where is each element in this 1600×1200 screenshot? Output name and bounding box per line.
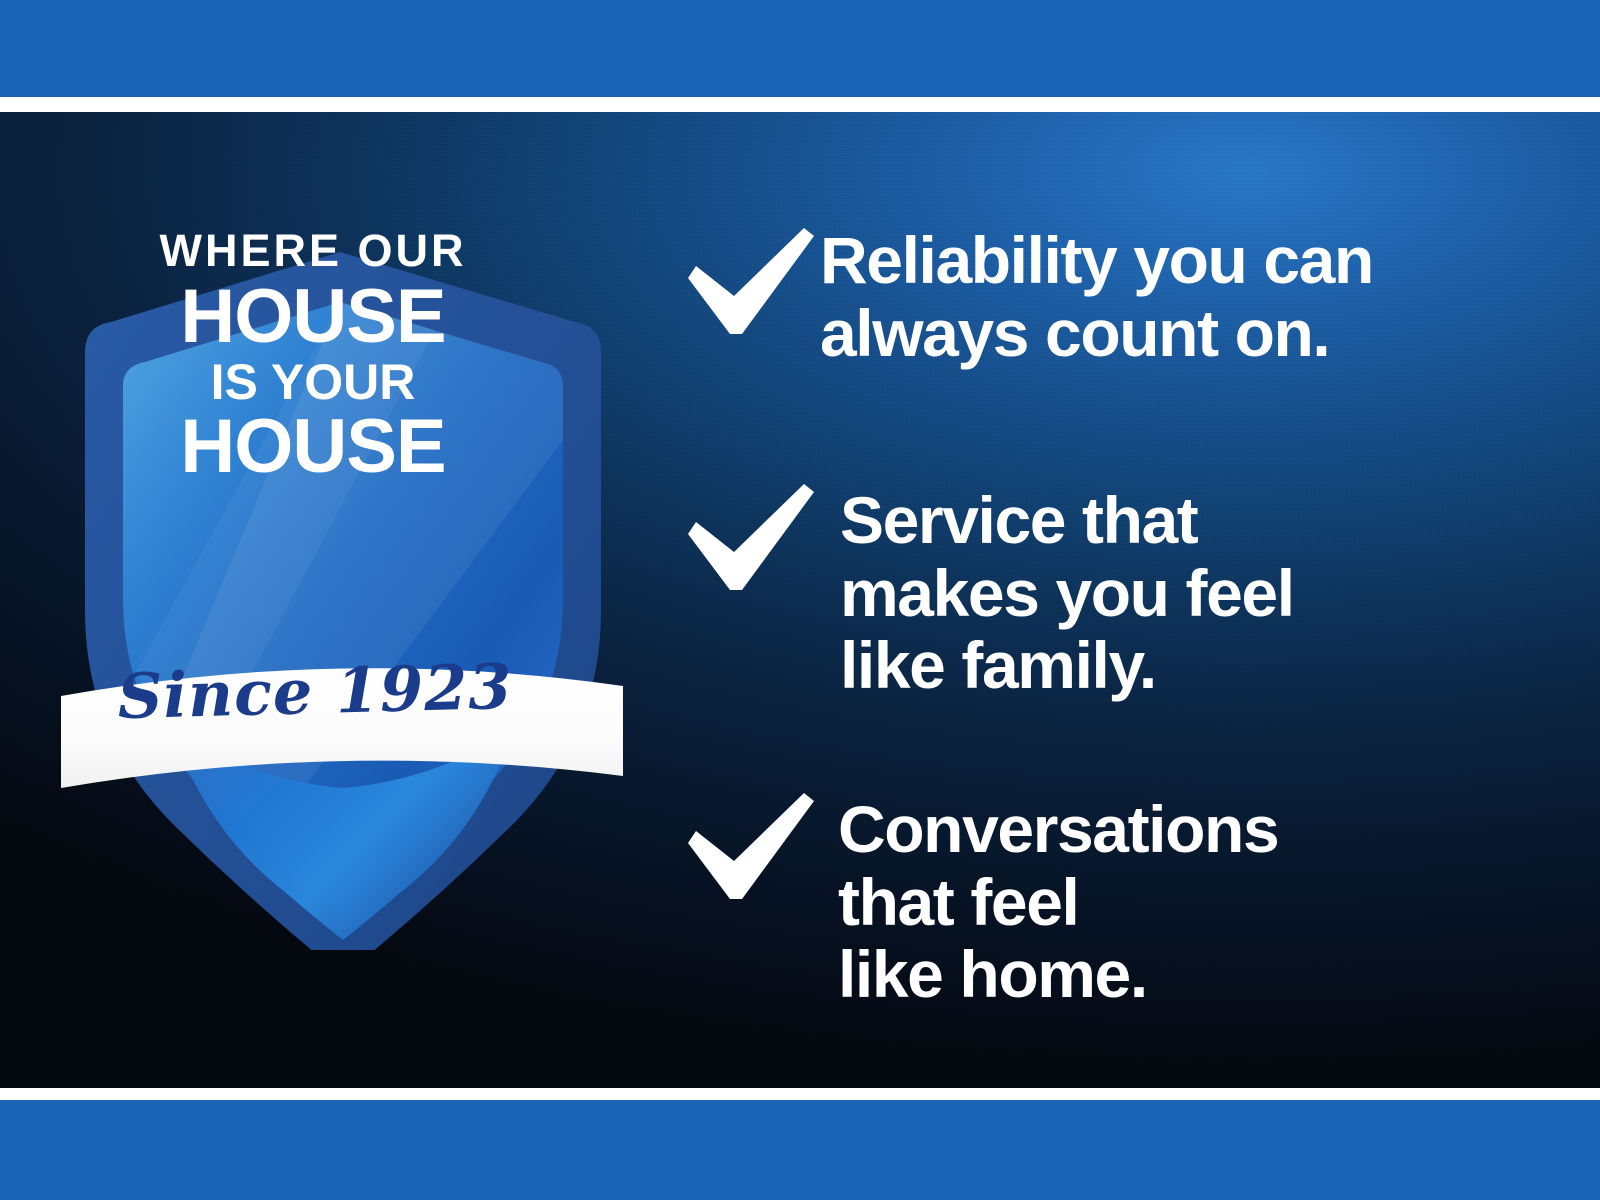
- benefit-item: Conversations that feel like home.: [680, 787, 1278, 1011]
- benefit-text: Conversations that feel like home.: [838, 787, 1278, 1011]
- checkmark-icon: [680, 478, 820, 598]
- bottom-brand-bar: [0, 1100, 1600, 1200]
- shield-emblem: [55, 140, 630, 950]
- benefit-text: Service that makes you feel like family.: [840, 478, 1294, 702]
- promo-banner: WHERE OUR HOUSE IS YOUR HOUSE Since 1923…: [0, 0, 1600, 1200]
- benefits-list: Reliability you can always count on. Ser…: [670, 112, 1570, 1088]
- top-brand-bar: [0, 0, 1600, 97]
- checkmark-icon: [680, 787, 820, 907]
- checkmark-icon: [680, 222, 820, 342]
- benefit-text: Reliability you can always count on.: [820, 222, 1373, 369]
- benefit-item: Reliability you can always count on.: [680, 222, 1373, 369]
- benefit-item: Service that makes you feel like family.: [680, 478, 1294, 702]
